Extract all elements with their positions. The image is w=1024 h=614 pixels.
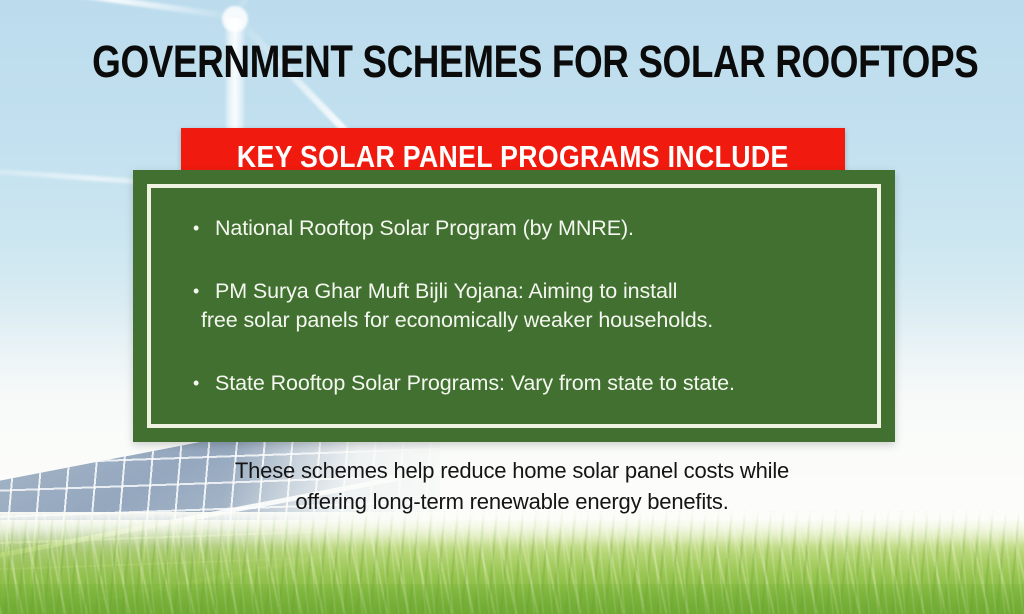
list-item: • PM Surya Ghar Muft Bijli Yojana: Aimin… xyxy=(193,277,861,335)
page-title: GOVERNMENT SCHEMES FOR SOLAR ROOFTOPS xyxy=(92,36,932,88)
summary-caption: These schemes help reduce home solar pan… xyxy=(0,455,1024,517)
list-item: • State Rooftop Solar Programs: Vary fro… xyxy=(193,369,861,398)
grass-foreground-shade xyxy=(0,584,1024,614)
list-item-text: PM Surya Ghar Muft Bijli Yojana: Aiming … xyxy=(209,277,861,335)
programs-bullet-list: • National Rooftop Solar Program (by MNR… xyxy=(193,206,861,398)
bullet-dot-icon: • xyxy=(193,214,209,243)
programs-content-box: • National Rooftop Solar Program (by MNR… xyxy=(133,170,895,442)
caption-line-2: offering long-term renewable energy bene… xyxy=(0,486,1024,517)
list-item-line: National Rooftop Solar Program (by MNRE)… xyxy=(215,216,634,240)
list-item-line: State Rooftop Solar Programs: Vary from … xyxy=(215,371,735,395)
caption-line-1: These schemes help reduce home solar pan… xyxy=(0,455,1024,486)
list-item-text: State Rooftop Solar Programs: Vary from … xyxy=(209,369,861,398)
bullet-dot-icon: • xyxy=(193,277,209,306)
bullet-dot-icon: • xyxy=(193,369,209,398)
list-item-text: National Rooftop Solar Program (by MNRE)… xyxy=(209,214,861,243)
list-item-line: free solar panels for economically weake… xyxy=(201,306,861,335)
grass-horizon-haze xyxy=(0,512,1024,546)
infographic-poster: GOVERNMENT SCHEMES FOR SOLAR ROOFTOPS KE… xyxy=(0,0,1024,614)
list-item: • National Rooftop Solar Program (by MNR… xyxy=(193,214,861,243)
banner-label: KEY SOLAR PANEL PROGRAMS INCLUDE xyxy=(237,140,789,174)
list-item-line: PM Surya Ghar Muft Bijli Yojana: Aiming … xyxy=(215,279,677,303)
